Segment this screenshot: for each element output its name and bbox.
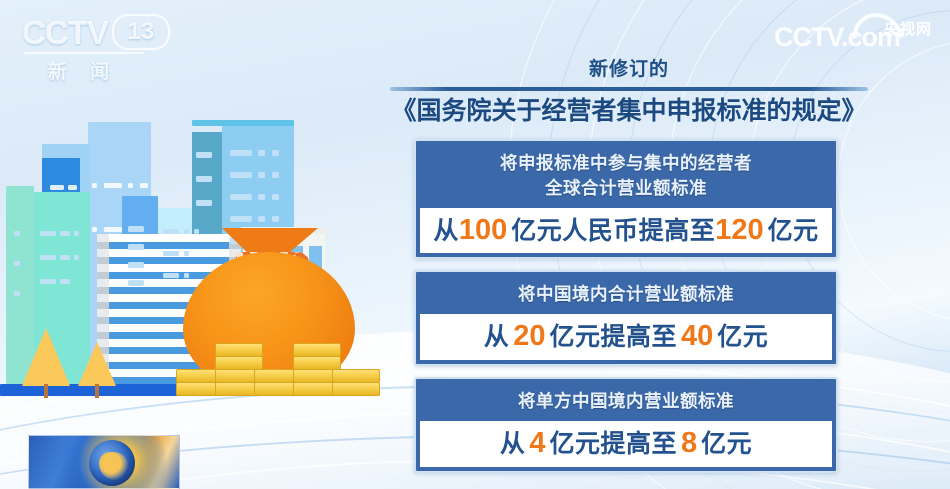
tree-trunk <box>44 384 48 398</box>
provision-card: 将申报标准中参与集中的经营者 全球合计营业额标准 从100亿元人民币提高至120… <box>414 139 838 259</box>
window <box>184 273 189 278</box>
window <box>230 150 252 156</box>
window <box>40 231 56 236</box>
headline-divider <box>390 87 868 91</box>
window <box>92 227 97 232</box>
value-prefix: 从 <box>433 217 459 245</box>
coin <box>332 369 380 383</box>
window <box>272 194 279 200</box>
window <box>230 194 252 200</box>
broadcast-graphic: CCTV 13 新 闻 CCTV.com 央视网 新修订的 《国务院关于经营者集… <box>0 0 950 489</box>
window <box>230 216 252 222</box>
window <box>194 229 199 234</box>
coin <box>332 382 380 396</box>
card-value-row: 从4亿元提高至8亿元 <box>420 421 832 467</box>
window <box>40 279 56 284</box>
window <box>230 172 252 178</box>
window <box>104 227 122 232</box>
channel-number-badge: 13 <box>112 14 170 50</box>
window <box>272 216 279 222</box>
provision-card-list: 将申报标准中参与集中的经营者 全球合计营业额标准 从100亿元人民币提高至120… <box>414 139 838 484</box>
window <box>140 183 148 188</box>
provision-card: 将单方中国境内营业额标准 从4亿元提高至8亿元 <box>414 377 838 473</box>
window <box>14 261 20 266</box>
value-to-number: 40 <box>681 320 713 352</box>
value-from-number: 100 <box>459 214 507 246</box>
cctv13-logo: CCTV 13 新 闻 <box>22 14 167 76</box>
globe-graphic-bug <box>28 435 180 489</box>
card-header: 将中国境内合计营业额标准 <box>420 276 832 314</box>
cctv-com-watermark: CCTV.com 央视网 <box>766 12 936 60</box>
window <box>196 176 212 182</box>
arc-accent-icon <box>28 435 93 489</box>
cctv-logo-row: CCTV 13 <box>22 14 167 50</box>
window <box>60 231 70 236</box>
window <box>196 152 212 158</box>
building-roofcap <box>192 120 294 126</box>
cctv-wordmark: CCTV <box>22 16 108 49</box>
value-prefix: 从 <box>500 430 526 458</box>
card-header-line1: 将申报标准中参与集中的经营者 <box>426 151 826 176</box>
window <box>14 231 20 236</box>
window <box>163 273 179 278</box>
cctv-com-text: CCTV.com <box>774 24 900 51</box>
value-to-number: 120 <box>715 214 763 246</box>
tree <box>22 328 70 386</box>
coin <box>215 356 263 370</box>
window <box>128 262 144 268</box>
window <box>128 244 144 250</box>
window <box>184 229 189 234</box>
window <box>272 150 279 156</box>
window <box>258 216 265 222</box>
logo-underline <box>24 52 144 54</box>
window <box>128 280 144 286</box>
card-header-line1: 将中国境内合计营业额标准 <box>426 282 826 307</box>
window <box>74 255 79 260</box>
coin <box>293 343 341 357</box>
window <box>163 229 179 234</box>
value-middle: 亿元人民币提高至 <box>511 217 715 245</box>
card-header: 将申报标准中参与集中的经营者 全球合计营业额标准 <box>420 145 832 208</box>
window <box>60 255 70 260</box>
provision-card: 将中国境内合计营业额标准 从20亿元提高至40亿元 <box>414 270 838 366</box>
window <box>92 183 97 188</box>
value-middle: 亿元提高至 <box>549 323 677 351</box>
value-suffix: 亿元 <box>717 323 768 351</box>
window <box>184 251 189 256</box>
value-from-number: 20 <box>513 320 545 352</box>
window <box>74 231 79 236</box>
window <box>258 172 265 178</box>
window <box>128 226 144 232</box>
card-header-line2: 全球合计营业额标准 <box>426 176 826 201</box>
window <box>196 200 212 206</box>
window <box>272 172 279 178</box>
window <box>104 183 122 188</box>
card-header: 将单方中国境内营业额标准 <box>420 383 832 421</box>
value-suffix: 亿元 <box>768 217 819 245</box>
headline-block: 新修订的 《国务院关于经营者集中申报标准的规定》 <box>390 58 868 127</box>
window <box>258 194 265 200</box>
card-value-row: 从20亿元提高至40亿元 <box>420 314 832 360</box>
value-prefix: 从 <box>484 323 510 351</box>
value-from-number: 4 <box>529 427 545 459</box>
window <box>40 255 56 260</box>
value-to-number: 8 <box>681 427 697 459</box>
tree <box>78 342 116 386</box>
value-middle: 亿元提高至 <box>549 430 677 458</box>
card-value-row: 从100亿元人民币提高至120亿元 <box>420 208 832 253</box>
window <box>128 183 133 188</box>
cctv-com-chinese-text: 央视网 <box>884 18 932 39</box>
window <box>163 251 179 256</box>
headline-kicker: 新修订的 <box>390 58 868 82</box>
coin-stack <box>332 370 380 396</box>
coin <box>215 343 263 357</box>
page-title: 《国务院关于经营者集中申报标准的规定》 <box>390 95 868 127</box>
tree-trunk <box>95 384 99 398</box>
coin <box>293 356 341 370</box>
value-suffix: 亿元 <box>701 430 752 458</box>
window <box>50 185 64 190</box>
window <box>68 185 77 190</box>
window <box>60 279 70 284</box>
card-header-line1: 将单方中国境内营业额标准 <box>426 389 826 414</box>
window <box>258 150 265 156</box>
city-illustration <box>0 74 400 414</box>
window <box>14 291 20 296</box>
